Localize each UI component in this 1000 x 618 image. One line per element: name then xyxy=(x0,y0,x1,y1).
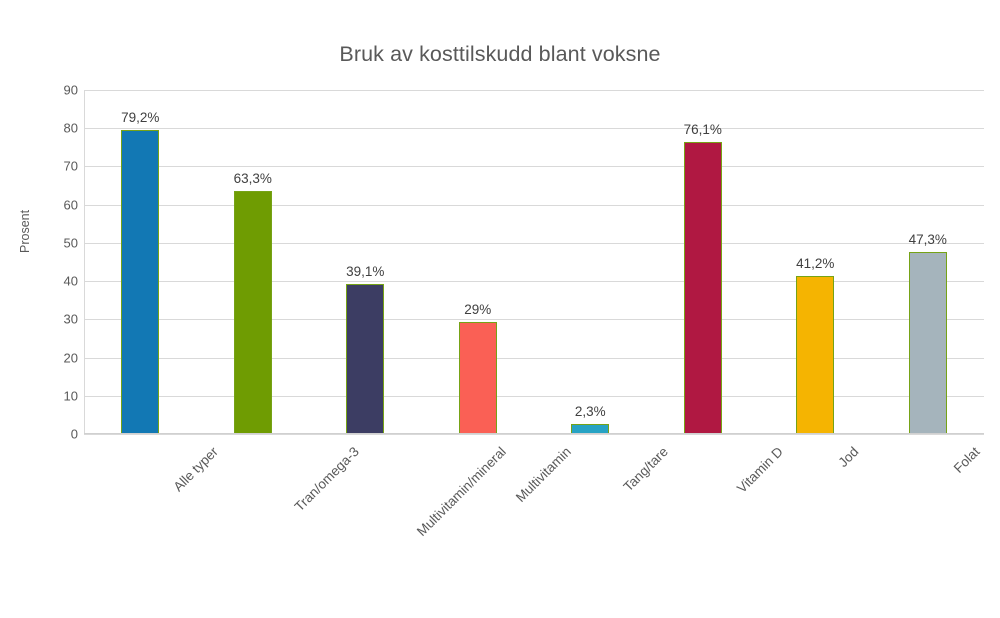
x-axis-category-label: Vitamin D xyxy=(734,444,786,496)
bar-slot: 76,1% xyxy=(647,90,760,434)
y-axis-tick-label: 20 xyxy=(32,350,78,365)
bar-slot: 79,2% xyxy=(84,90,197,434)
bar[interactable] xyxy=(571,424,609,433)
bar-value-label: 2,3% xyxy=(575,404,606,419)
x-axis-category-label: Multivitamin xyxy=(513,444,574,505)
bar[interactable] xyxy=(121,130,159,433)
bar-slot: 41,2% xyxy=(759,90,872,434)
bar-value-label: 76,1% xyxy=(684,122,722,137)
chart-title: Bruk av kosttilskudd blant voksne xyxy=(0,42,1000,67)
bar-value-label: 63,3% xyxy=(234,171,272,186)
bar[interactable] xyxy=(346,284,384,433)
bar-chart: Bruk av kosttilskudd blant voksne Prosen… xyxy=(0,0,1000,618)
x-axis-category-label: Alle typer xyxy=(171,444,221,494)
x-axis-category-label: Jod xyxy=(836,444,862,470)
x-axis-category-label: Multivitamin/mineral xyxy=(414,444,509,539)
plot-area: 79,2%63,3%39,1%29%2,3%76,1%41,2%47,3% xyxy=(84,90,984,434)
bar-slot: 63,3% xyxy=(197,90,310,434)
y-axis-tick-label: 40 xyxy=(32,274,78,289)
y-axis-tick-label: 10 xyxy=(32,388,78,403)
bar[interactable] xyxy=(459,322,497,433)
y-axis-tick-labels: 9080706050403020100 xyxy=(20,90,78,434)
x-axis-category-label: Folat xyxy=(951,444,983,476)
y-axis-tick-label: 90 xyxy=(32,83,78,98)
bar-value-label: 47,3% xyxy=(909,232,947,247)
bar-value-label: 41,2% xyxy=(796,256,834,271)
bar-value-label: 39,1% xyxy=(346,264,384,279)
bar-slot: 29% xyxy=(422,90,535,434)
bar[interactable] xyxy=(234,191,272,433)
y-axis-tick-label: 70 xyxy=(32,159,78,174)
y-axis-tick-label: 50 xyxy=(32,235,78,250)
y-axis-tick-label: 30 xyxy=(32,312,78,327)
y-axis-tick-label: 60 xyxy=(32,197,78,212)
x-axis-category-labels: Alle typerTran/omega-3Multivitamin/miner… xyxy=(84,434,984,604)
y-axis-tick-label: 80 xyxy=(32,121,78,136)
x-axis-category-label: Tran/omega-3 xyxy=(291,444,361,514)
bar[interactable] xyxy=(684,142,722,433)
bar-slot: 2,3% xyxy=(534,90,647,434)
bar[interactable] xyxy=(796,276,834,433)
y-axis-tick-label: 0 xyxy=(32,427,78,442)
bar-value-label: 79,2% xyxy=(121,110,159,125)
x-axis-category-label: Tang/tare xyxy=(621,444,671,494)
bar-slot: 47,3% xyxy=(872,90,985,434)
bar[interactable] xyxy=(909,252,947,433)
bar-value-label: 29% xyxy=(464,302,491,317)
bar-slot: 39,1% xyxy=(309,90,422,434)
